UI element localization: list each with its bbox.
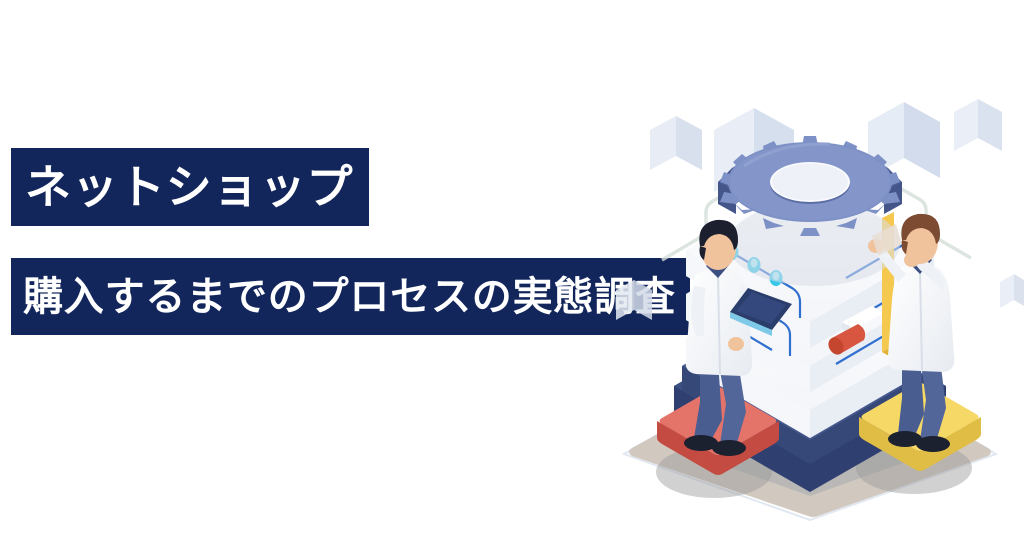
promo-banner: ネットショップ 購入するまでのプロセスの実態調査: [0, 0, 1024, 538]
page-title-line-1: ネットショップ: [25, 164, 353, 210]
title-band-secondary: 購入するまでのプロセスの実態調査: [11, 258, 690, 335]
page-title-line-2: 購入するまでのプロセスの実態調査: [23, 277, 676, 317]
chevron-icon: [954, 99, 1002, 151]
chevron-icon: [1000, 274, 1024, 308]
chevron-icon: [650, 116, 702, 170]
title-band-primary: ネットショップ: [11, 148, 369, 226]
chevron-icon: [616, 280, 652, 320]
isometric-process-illustration: [596, 60, 1024, 538]
gear: [718, 136, 902, 286]
